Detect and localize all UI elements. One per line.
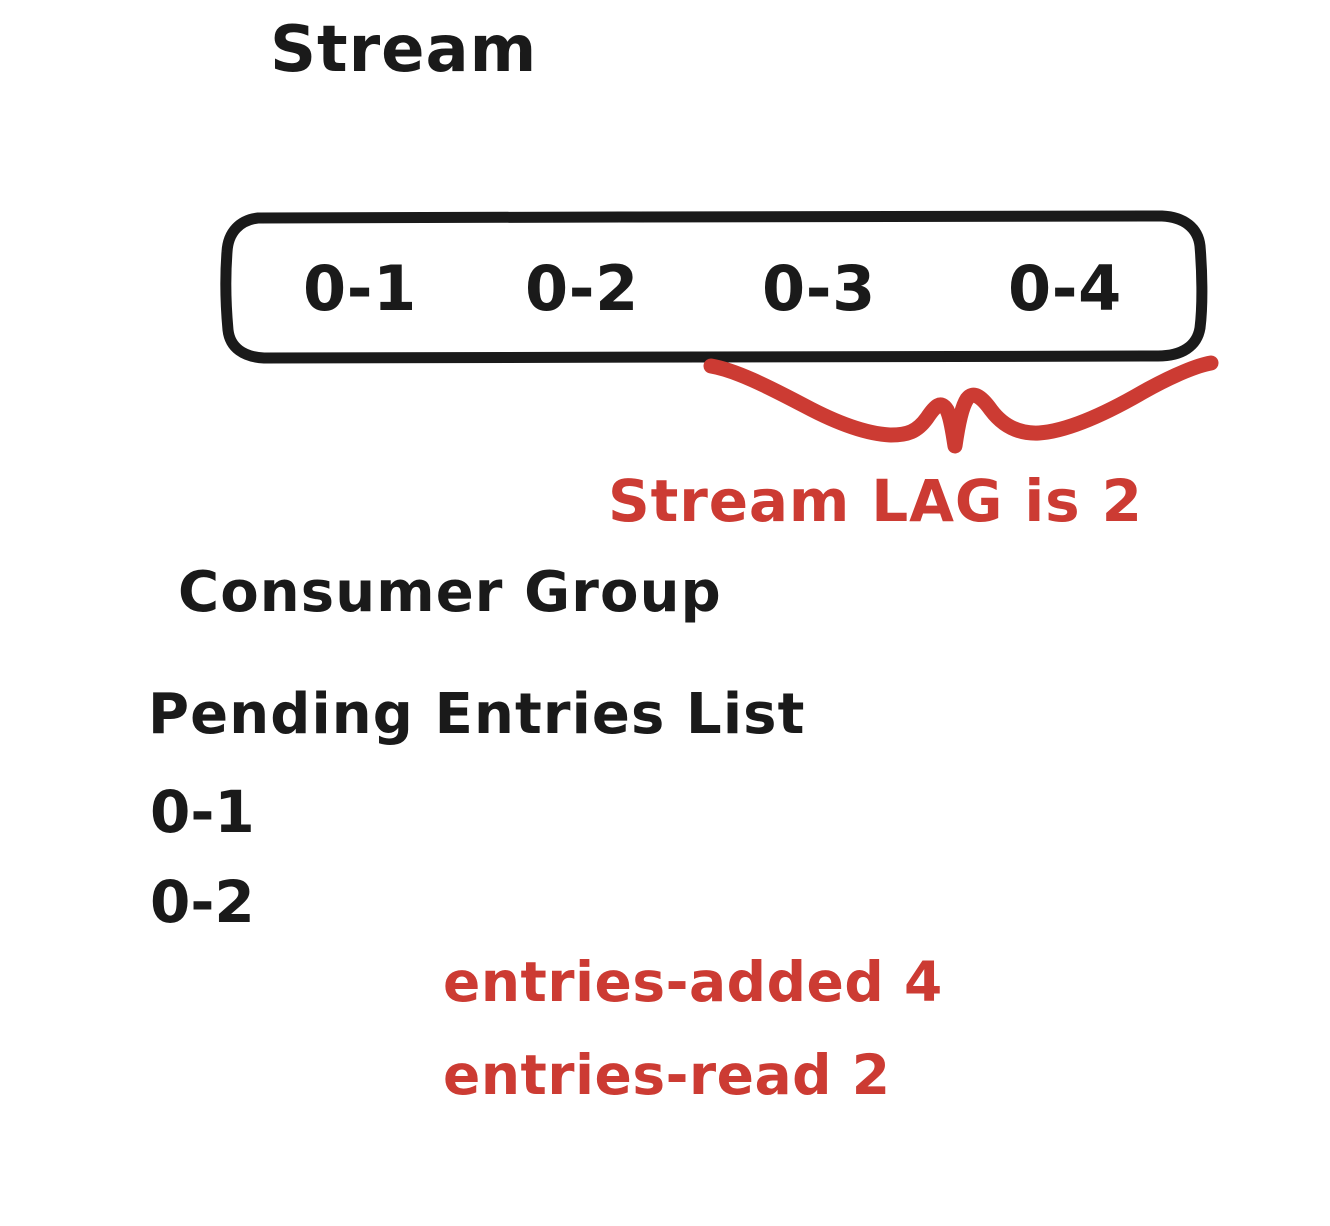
entries-read-stat: entries-read 2 [443,1043,891,1107]
stream-entry: 0-3 [762,252,876,325]
stream-entry: 0-2 [525,252,639,325]
diagram-canvas: Stream 0-1 0-2 0-3 0-4 Stream LAG is 2 C… [0,0,1330,1226]
lag-brace-path [695,352,1225,462]
pending-entries-list-title: Pending Entries List [148,687,806,743]
pending-entry: 0-2 [150,868,255,936]
page-title: Stream [270,18,537,82]
stream-entry: 0-1 [303,252,417,325]
pending-entry: 0-1 [150,778,255,846]
entries-added-stat: entries-added 4 [443,950,943,1014]
stream-entry: 0-4 [1008,252,1122,325]
lag-brace [695,352,1225,462]
lag-caption: Stream LAG is 2 [608,472,1143,530]
consumer-group-title: Consumer Group [178,565,722,621]
